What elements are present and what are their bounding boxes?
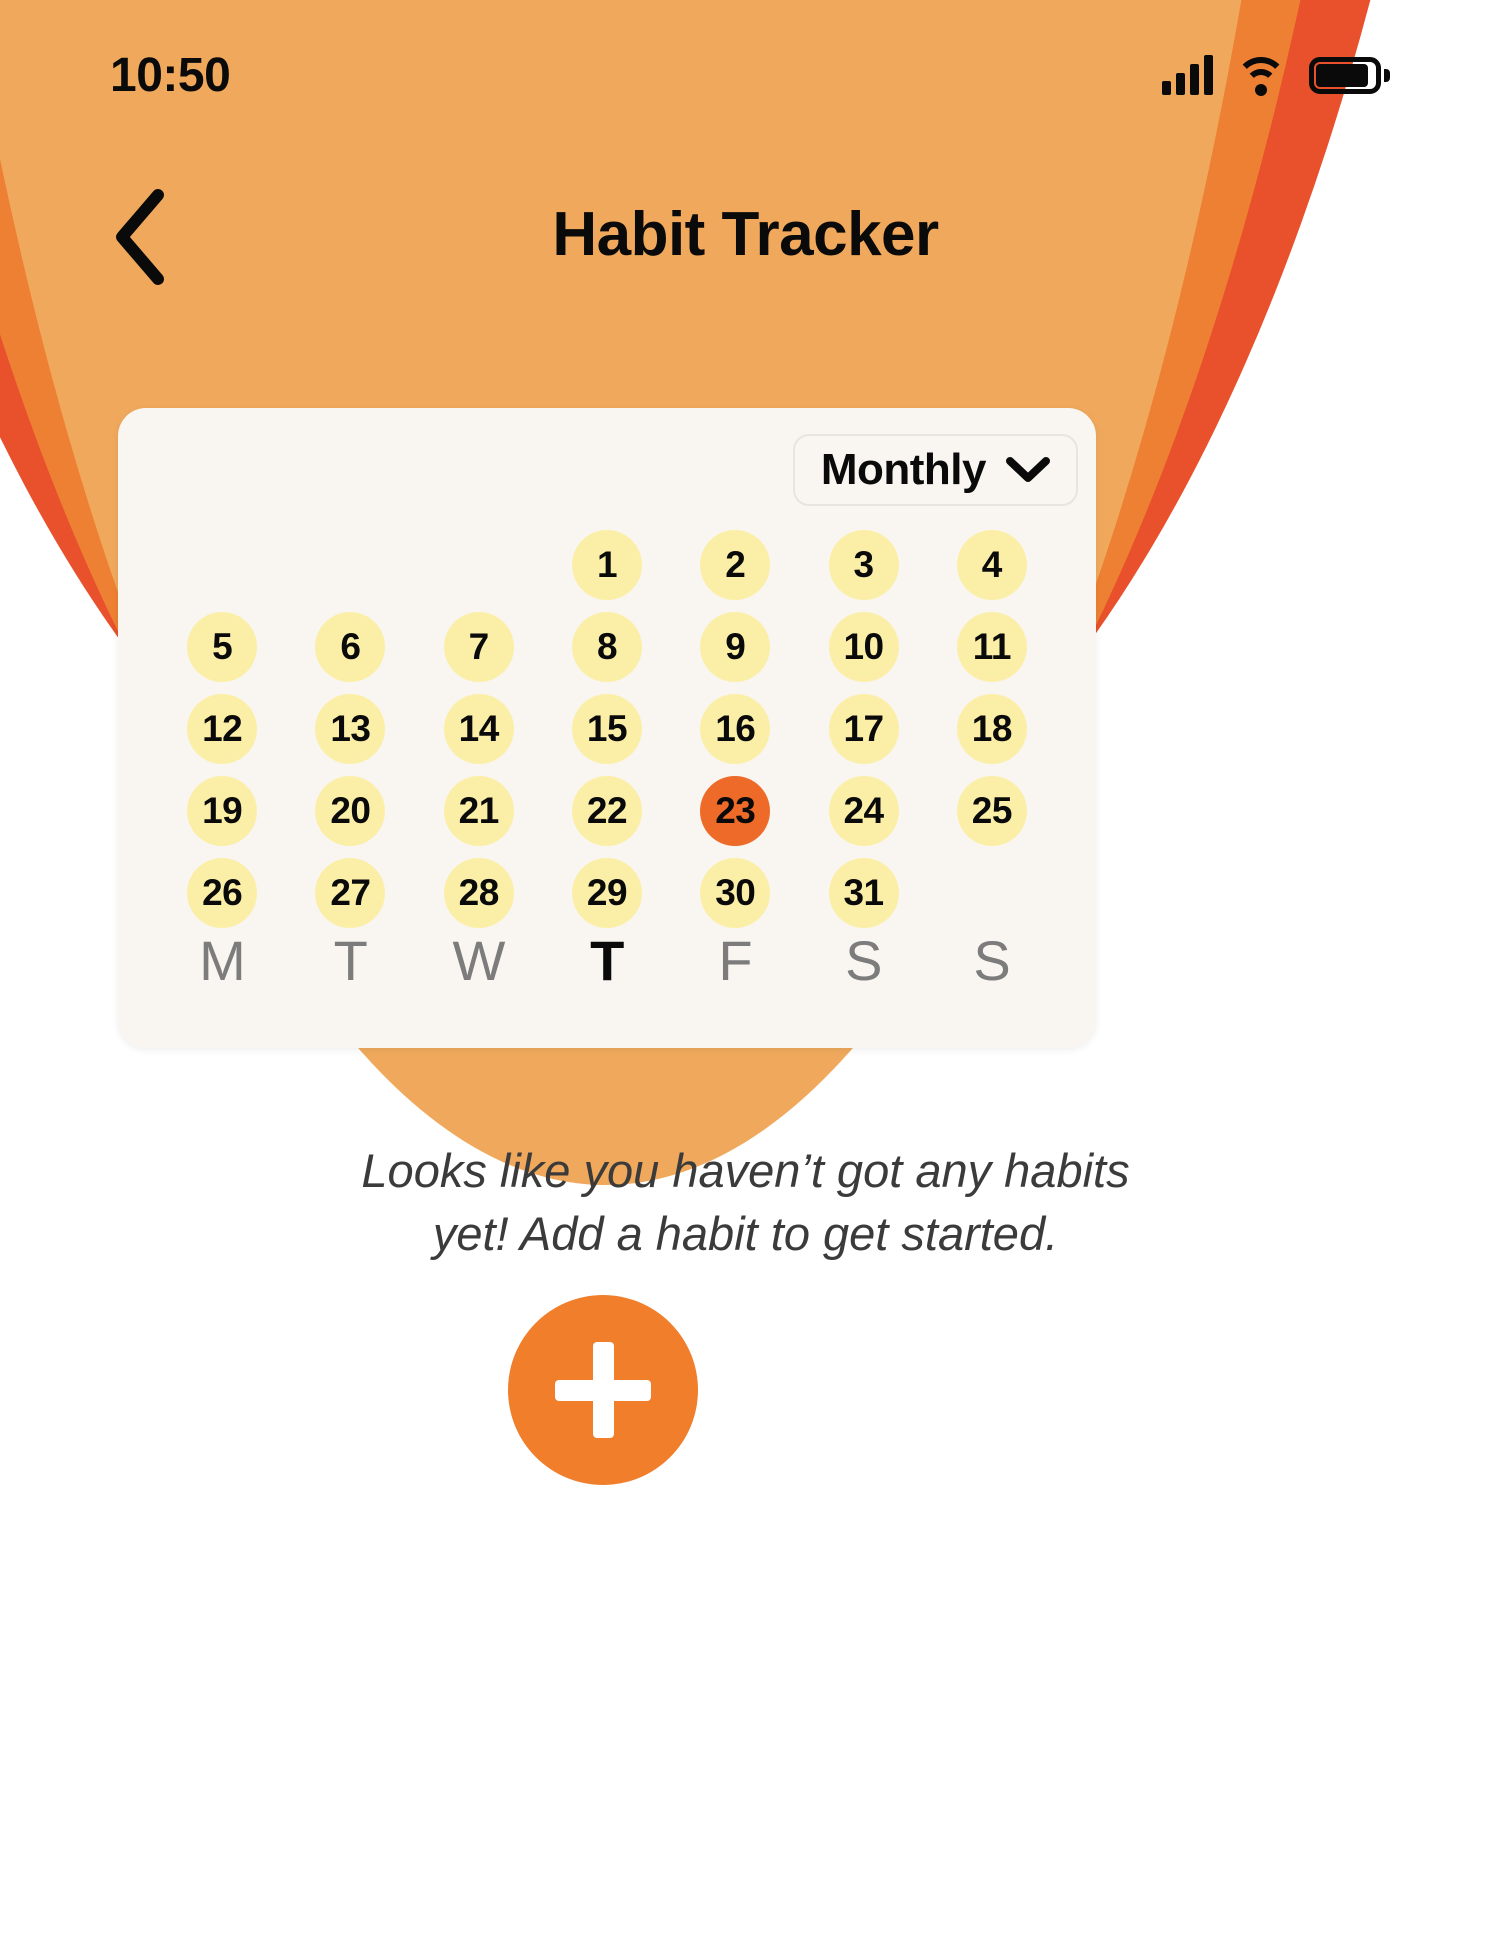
weekday-label: M — [158, 928, 286, 993]
calendar-day[interactable]: 6 — [315, 612, 385, 682]
calendar-blank-cell — [286, 530, 414, 600]
chevron-down-icon — [1006, 457, 1050, 483]
weekday-label: T — [543, 928, 671, 993]
calendar-day[interactable]: 2 — [700, 530, 770, 600]
calendar-day-cell: 13 — [286, 694, 414, 764]
calendar-weekday-row: MTWTFSS — [158, 928, 1056, 993]
calendar-day-cell: 15 — [543, 694, 671, 764]
calendar-range-label: Monthly — [821, 445, 986, 495]
wifi-icon — [1235, 55, 1287, 95]
calendar-day[interactable]: 18 — [957, 694, 1027, 764]
calendar-day-cell: 1 — [543, 530, 671, 600]
calendar-day-cell: 9 — [671, 612, 799, 682]
calendar-blank-cell — [158, 530, 286, 600]
battery-full-icon — [1309, 57, 1381, 94]
calendar-day-cell: 25 — [928, 776, 1056, 846]
calendar-day[interactable]: 26 — [187, 858, 257, 928]
calendar-day-cell: 19 — [158, 776, 286, 846]
calendar-day-cell: 12 — [158, 694, 286, 764]
calendar-day[interactable]: 7 — [444, 612, 514, 682]
calendar-day-cell: 7 — [415, 612, 543, 682]
calendar-day[interactable]: 11 — [957, 612, 1027, 682]
empty-state-message: Looks like you haven’t got any habits ye… — [0, 1140, 1491, 1265]
weekday-label: F — [671, 928, 799, 993]
calendar-day[interactable]: 8 — [572, 612, 642, 682]
calendar-card: Monthly 12345678910111213141516171819202… — [118, 408, 1096, 1048]
calendar-day-cell: 16 — [671, 694, 799, 764]
calendar-day[interactable]: 31 — [829, 858, 899, 928]
calendar-day-cell: 6 — [286, 612, 414, 682]
calendar-day[interactable]: 12 — [187, 694, 257, 764]
app-header: Habit Tracker — [0, 175, 1491, 305]
calendar-day-cell: 8 — [543, 612, 671, 682]
calendar-day[interactable]: 14 — [444, 694, 514, 764]
calendar-day[interactable]: 4 — [957, 530, 1027, 600]
calendar-day[interactable]: 25 — [957, 776, 1027, 846]
calendar-day-cell: 2 — [671, 530, 799, 600]
calendar-day-cell: 21 — [415, 776, 543, 846]
weekday-label: S — [799, 928, 927, 993]
calendar-day[interactable]: 17 — [829, 694, 899, 764]
calendar-day[interactable]: 5 — [187, 612, 257, 682]
calendar-day[interactable]: 1 — [572, 530, 642, 600]
calendar-day[interactable]: 22 — [572, 776, 642, 846]
calendar-day-today[interactable]: 23 — [700, 776, 770, 846]
calendar-day[interactable]: 30 — [700, 858, 770, 928]
calendar-day[interactable]: 24 — [829, 776, 899, 846]
calendar-day-cell: 26 — [158, 858, 286, 928]
empty-state-line-1: Looks like you haven’t got any habits — [361, 1144, 1129, 1197]
status-icon-group — [1162, 55, 1381, 95]
app-screen: 10:50 Habit Tracker — [0, 0, 1491, 1935]
plus-icon-vertical — [593, 1342, 614, 1438]
calendar-day-cell: 14 — [415, 694, 543, 764]
calendar-day[interactable]: 19 — [187, 776, 257, 846]
status-bar: 10:50 — [0, 0, 1491, 150]
calendar-day-cell: 10 — [799, 612, 927, 682]
calendar-day[interactable]: 20 — [315, 776, 385, 846]
calendar-day-cell: 20 — [286, 776, 414, 846]
calendar-day-cell: 31 — [799, 858, 927, 928]
calendar-day[interactable]: 15 — [572, 694, 642, 764]
calendar-day[interactable]: 13 — [315, 694, 385, 764]
calendar-day-cell: 23 — [671, 776, 799, 846]
calendar-day-cell: 3 — [799, 530, 927, 600]
calendar-day-cell: 30 — [671, 858, 799, 928]
calendar-day-cell: 24 — [799, 776, 927, 846]
weekday-label: T — [286, 928, 414, 993]
calendar-day[interactable]: 3 — [829, 530, 899, 600]
calendar-day-cell: 5 — [158, 612, 286, 682]
calendar-day-cell: 29 — [543, 858, 671, 928]
empty-state-line-2: yet! Add a habit to get started. — [433, 1207, 1058, 1260]
calendar-day-cell: 17 — [799, 694, 927, 764]
calendar-day-cell: 22 — [543, 776, 671, 846]
calendar-day-grid: 1234567891011121314151617181920212223242… — [158, 530, 1056, 928]
signal-bars-icon — [1162, 55, 1213, 95]
calendar-day[interactable]: 21 — [444, 776, 514, 846]
calendar-day-cell: 4 — [928, 530, 1056, 600]
weekday-label: W — [415, 928, 543, 993]
calendar-day-cell: 27 — [286, 858, 414, 928]
calendar-day[interactable]: 28 — [444, 858, 514, 928]
weekday-label: S — [928, 928, 1056, 993]
phone-frame: 10:50 Habit Tracker — [0, 0, 1491, 1935]
calendar-range-dropdown[interactable]: Monthly — [793, 434, 1078, 506]
calendar-day[interactable]: 29 — [572, 858, 642, 928]
calendar-day[interactable]: 27 — [315, 858, 385, 928]
calendar-day[interactable]: 10 — [829, 612, 899, 682]
status-time: 10:50 — [110, 48, 230, 103]
page-title: Habit Tracker — [0, 175, 1491, 295]
calendar-day[interactable]: 9 — [700, 612, 770, 682]
calendar-day-cell: 28 — [415, 858, 543, 928]
calendar-day-cell: 11 — [928, 612, 1056, 682]
add-habit-fab[interactable] — [508, 1295, 698, 1485]
calendar-day-cell: 18 — [928, 694, 1056, 764]
calendar-blank-cell — [415, 530, 543, 600]
calendar-day[interactable]: 16 — [700, 694, 770, 764]
